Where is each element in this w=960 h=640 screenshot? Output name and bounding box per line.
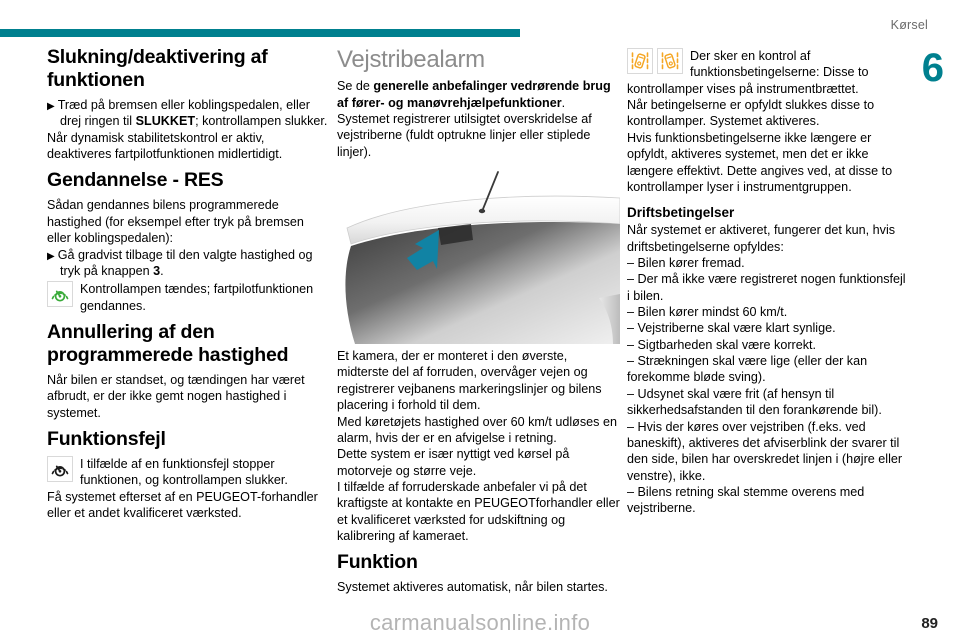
arrow-bullet-icon: ▶	[47, 101, 58, 112]
step-text-bold1: SLUKKET	[136, 114, 195, 128]
lane-icon-pair	[627, 48, 683, 74]
recommend-bold: generelle anbefalinger vedrørende brug a…	[337, 79, 611, 109]
instruction-step-turn-off: ▶Træd på bremsen eller koblingspedalen, …	[47, 97, 330, 130]
paragraph-camera-desc: Et kamera, der er monteret i den øverste…	[337, 348, 620, 413]
paragraph-windscreen-damage: I tilfælde af forruderskade anbefaler vi…	[337, 479, 620, 544]
paragraph-conditions-met: Når betingelserne er opfyldt slukkes dis…	[627, 97, 910, 130]
column-right: Der sker en kontrol af funktionsbetingel…	[627, 46, 910, 517]
paragraph-system-registers: Systemet registrerer utilsigtet overskri…	[337, 111, 620, 160]
paragraph-alarm-speed: Med køretøjets hastighed over 60 km/t ud…	[337, 414, 620, 447]
paragraph-dsc-note: Når dynamisk stabilitetskontrol er aktiv…	[47, 130, 330, 163]
paragraph-telltales-shown: kontrollamper vises på instrumentbrættet…	[627, 81, 910, 97]
instruction-step-resume: ▶Gå gradvist tilbage til den valgte hast…	[47, 247, 330, 280]
list-item: – Udsynet skal være frit (af hensyn til …	[627, 386, 910, 419]
list-item: – Bilen kører fremad.	[627, 255, 910, 271]
step-text-tail2: .	[160, 264, 164, 278]
page-body: Slukning/deaktivering af funktionen ▶Træ…	[0, 46, 960, 606]
list-item: – Bilen kører mindst 60 km/t.	[627, 304, 910, 320]
condition-text: Bilen kører mindst 60 km/t.	[638, 305, 788, 319]
cruise-control-black-icon	[47, 456, 73, 482]
section-title-gendannelse: Gendannelse - RES	[47, 169, 330, 192]
paragraph-conditions-unmet: Hvis funktionsbetingelserne ikke længere…	[627, 130, 910, 195]
recommend-tail: .	[562, 96, 566, 110]
telltale-row-resume: Kontrollampen tændes; fartpilotfunktione…	[47, 281, 330, 314]
arrow-bullet-icon: ▶	[47, 251, 58, 262]
list-item: – Sigtbarheden skal være korrekt.	[627, 337, 910, 353]
telltale-text-resume: Kontrollampen tændes; fartpilotfunktione…	[73, 281, 330, 314]
telltale-row-fault: I tilfælde af en funktionsfejl stopper f…	[47, 456, 330, 489]
paragraph-dealer-check: Få systemet efterset af en PEUGEOT-forha…	[47, 489, 330, 522]
telltale-text-fault: I tilfælde af en funktionsfejl stopper f…	[73, 456, 330, 489]
telltale-text-lane-check: Der sker en kontrol af funktionsbetingel…	[683, 48, 910, 81]
paragraph-general-recommendations: Se de generelle anbefalinger vedrørende …	[337, 78, 620, 111]
header-accent-bar	[0, 29, 520, 37]
paragraph-resume-intro: Sådan gendannes bilens programmerede has…	[47, 197, 330, 246]
list-item: – Bilens retning skal stemme overens med…	[627, 484, 910, 517]
section-title-annullering: Annullering af den programmerede hastigh…	[47, 321, 330, 367]
list-item: – Vejstriberne skal være klart synlige.	[627, 320, 910, 336]
conditions-list: – Bilen kører fremad. – Der må ikke være…	[627, 255, 910, 517]
condition-text: Sigtbarheden skal være korrekt.	[638, 338, 817, 352]
telltale-row-lane-pair: Der sker en kontrol af funktionsbetingel…	[627, 48, 910, 81]
site-watermark: carmanualsonline.info	[0, 610, 960, 636]
section-title-funktionsfejl: Funktionsfejl	[47, 428, 330, 451]
condition-text: Udsynet skal være frit (af hensyn til si…	[627, 387, 882, 417]
condition-text: Vejstriberne skal være klart synlige.	[638, 321, 836, 335]
column-left: Slukning/deaktivering af funktionen ▶Træ…	[47, 46, 330, 521]
column-middle: Vejstribealarm Se de generelle anbefalin…	[337, 46, 620, 596]
condition-text: Bilens retning skal stemme overens med v…	[627, 485, 864, 515]
condition-text: Der må ikke være registreret nogen funkt…	[627, 272, 906, 302]
section-title-slukning: Slukning/deaktivering af funktionen	[47, 46, 330, 92]
paragraph-annullering: Når bilen er standset, og tændingen har …	[47, 372, 330, 421]
paragraph-auto-activate: Systemet aktiveres automatisk, når bilen…	[337, 579, 620, 595]
condition-text: Hvis der køres over vejstriben (f.eks. v…	[627, 420, 902, 483]
cruise-control-green-icon	[47, 281, 73, 307]
windscreen-camera-illustration	[337, 166, 620, 344]
list-item: – Der må ikke være registreret nogen fun…	[627, 271, 910, 304]
list-item: – Hvis der køres over vejstriben (f.eks.…	[627, 419, 910, 484]
section-title-vejstribealarm: Vejstribealarm	[337, 46, 620, 74]
paragraph-useful-roads: Dette system er især nyttigt ved kørsel …	[337, 446, 620, 479]
step-text-tail1: ; kontrollampen slukker.	[195, 114, 327, 128]
step-text-part2: Gå gradvist tilbage til den valgte hasti…	[58, 248, 313, 278]
lane-departure-left-icon	[627, 48, 653, 74]
condition-text: Bilen kører fremad.	[638, 256, 745, 270]
list-item: – Strækningen skal være lige (eller der …	[627, 353, 910, 386]
condition-text: Strækningen skal være lige (eller der ka…	[627, 354, 867, 384]
lane-departure-right-icon	[657, 48, 683, 74]
paragraph-operating-intro: Når systemet er aktiveret, fungerer det …	[627, 222, 910, 255]
section-title-driftsbetingelser: Driftsbetingelser	[627, 205, 910, 220]
recommend-lead: Se de	[337, 79, 373, 93]
section-title-funktion: Funktion	[337, 551, 620, 574]
header-chapter-label: Kørsel	[891, 18, 928, 32]
